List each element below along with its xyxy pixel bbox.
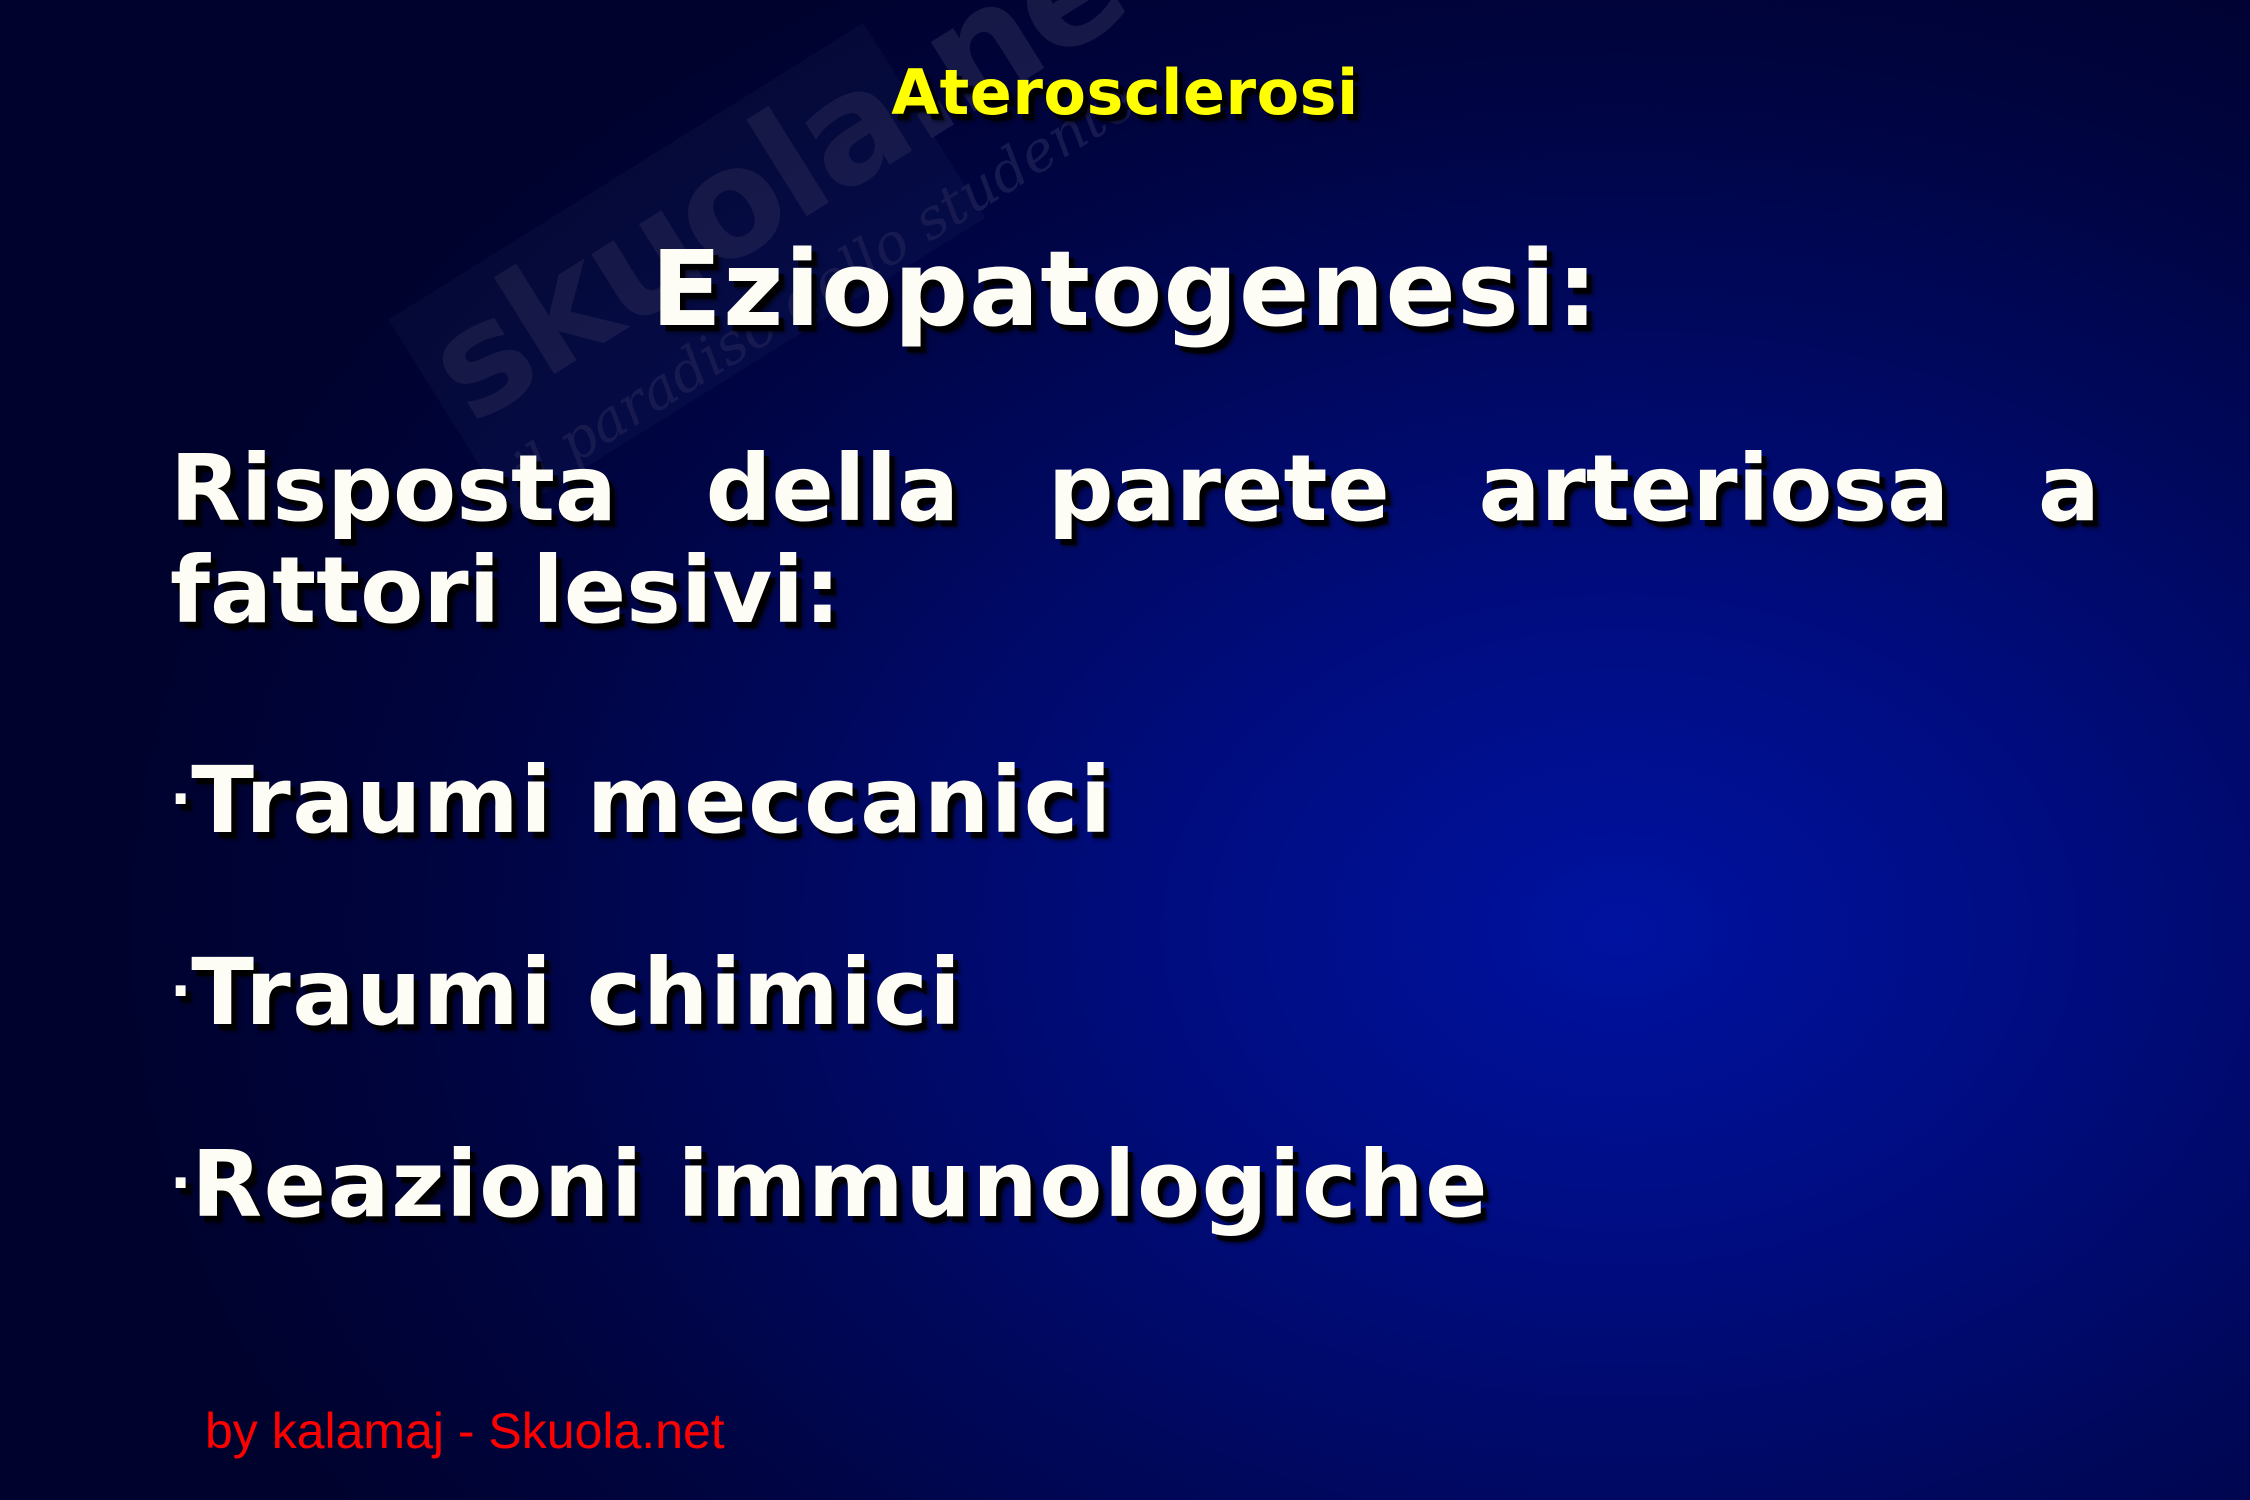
author-credit: by kalamaj - Skuola.net [205,1402,725,1460]
list-item-label: Traumi chimici [191,939,962,1046]
bullet-dot-icon: · [170,1151,191,1216]
bullet-dot-icon: · [170,959,191,1024]
body-line-1: Risposta della parete arteriosa a [170,435,2100,543]
list-item: ·Reazioni immunologiche [170,1139,2100,1231]
presentation-slide: skuola.net il paradiso dello studente At… [0,0,2250,1500]
body-line-2: fattori lesivi: [170,537,2100,645]
body-paragraph: Risposta della parete arteriosa a fattor… [170,435,2100,644]
slide-title: Aterosclerosi [0,56,2250,129]
slide-subtitle: Eziopatogenesi: [0,228,2250,350]
bullet-list: ·Traumi meccanici ·Traumi chimici ·Reazi… [170,755,2100,1331]
list-item-label: Traumi meccanici [191,747,1113,854]
list-item-label: Reazioni immunologiche [191,1131,1489,1238]
list-item: ·Traumi meccanici [170,755,2100,847]
slide-content: Aterosclerosi Eziopatogenesi: Risposta d… [0,0,2250,1500]
bullet-dot-icon: · [170,767,191,832]
list-item: ·Traumi chimici [170,947,2100,1039]
